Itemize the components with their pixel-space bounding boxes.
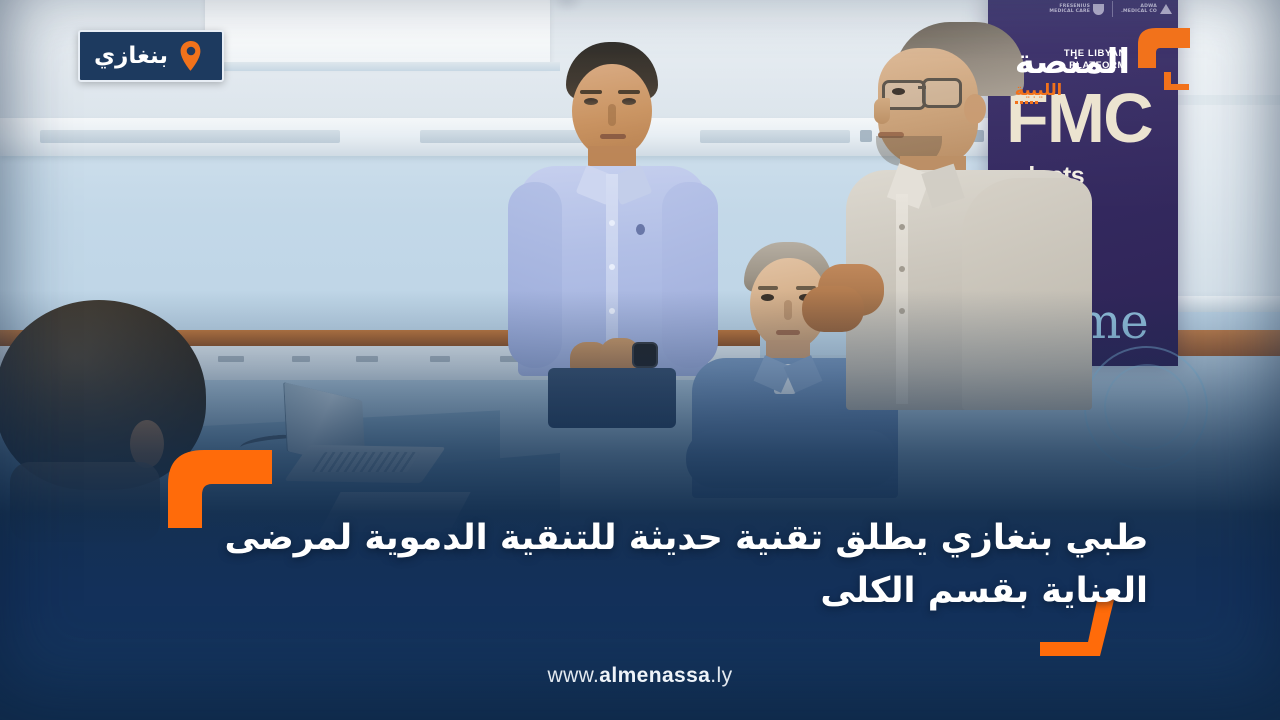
headline-text: طبي بنغازي يطلق تقنية حديثة للتنقية الدم…: [208, 512, 1148, 618]
logo-dots-decoration: [1015, 101, 1038, 104]
url-tld: .ly: [710, 664, 732, 687]
location-badge[interactable]: بنغازي: [78, 30, 224, 82]
location-label: بنغازي: [94, 45, 168, 68]
website-url[interactable]: www.almenassa.ly: [0, 664, 1280, 688]
map-pin-icon: [180, 41, 202, 71]
logo-arabic-text: المنصة الليبية: [1015, 44, 1130, 104]
logo-arabic-sub: الليبية: [1015, 81, 1062, 99]
logo-arabic-main: المنصة: [1015, 44, 1130, 80]
url-prefix: www.: [548, 664, 600, 687]
logo-bracket-mark: [1134, 22, 1194, 96]
url-domain: almenassa: [599, 664, 710, 687]
news-card: ADWA MEDICAL CO. FRESENIUS MEDICAL CARE …: [0, 0, 1280, 720]
brand-logo[interactable]: THE LIBYAN PLATFORM المنصة الليبية: [1064, 22, 1194, 96]
